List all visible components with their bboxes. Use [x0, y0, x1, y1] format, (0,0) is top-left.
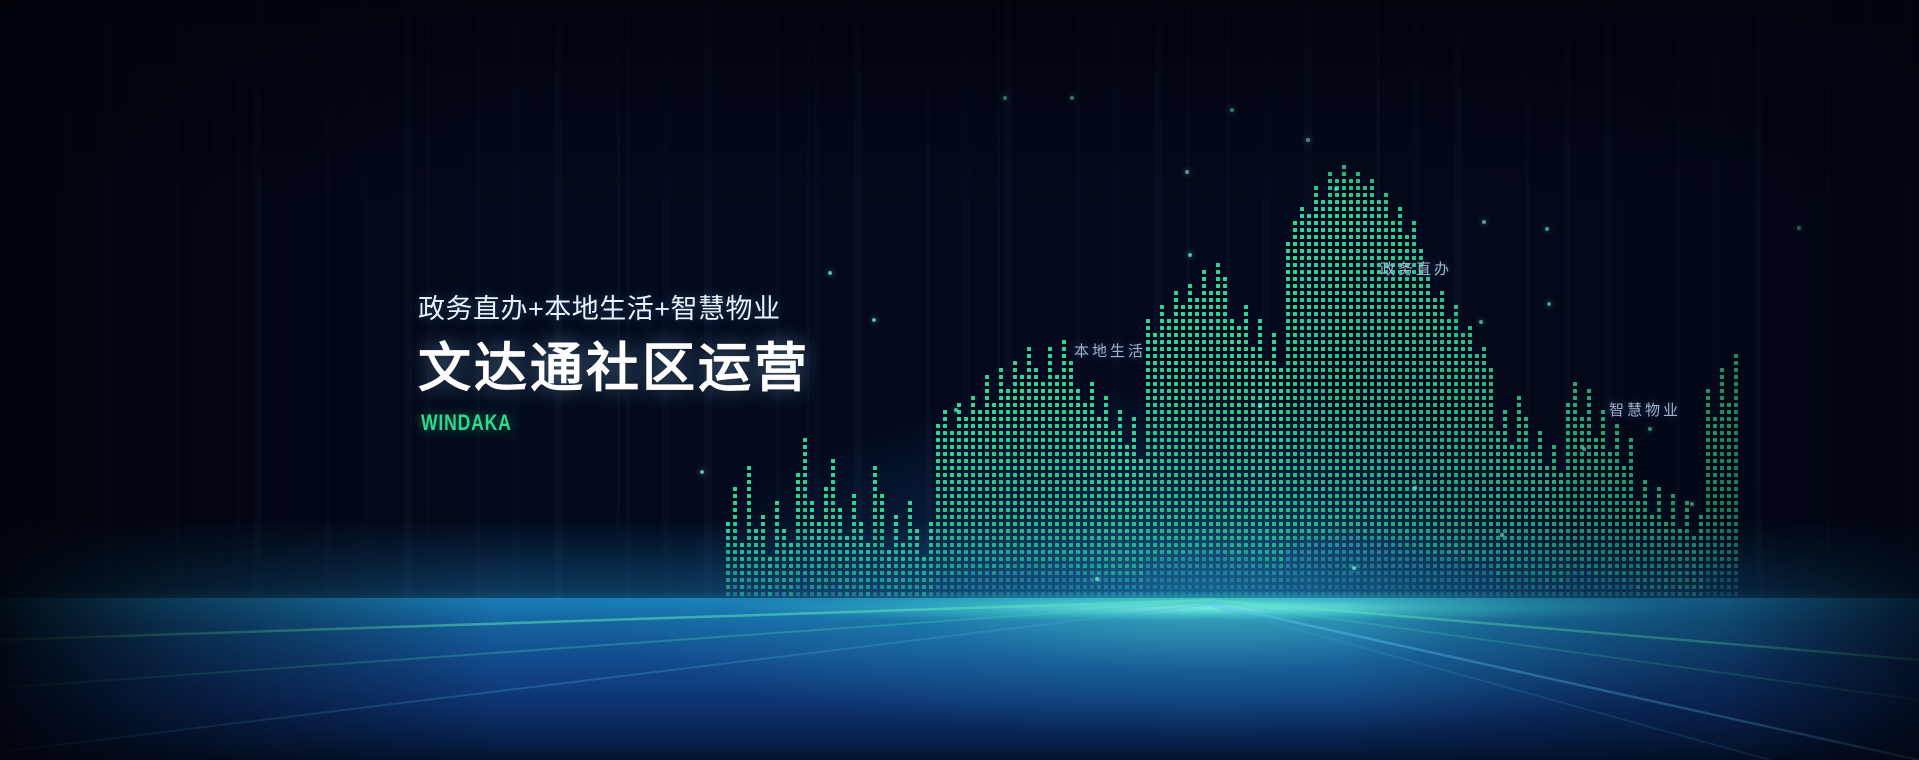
brand-wordmark: WINDAKA: [421, 412, 732, 434]
hero-copy-block: 政务直办+本地生活+智慧物业 文达通社区运营 WINDAKA: [418, 296, 810, 434]
edge-vignette: [0, 0, 1919, 760]
floating-label: 本地生活: [1074, 340, 1146, 361]
hero-subtitle: 政务直办+本地生活+智慧物业: [418, 296, 810, 323]
floating-label: 政务直办: [1380, 258, 1452, 279]
hero-title: 文达通社区运营: [418, 342, 810, 395]
floating-label: 智慧物业: [1609, 399, 1681, 420]
hero-banner: 本地生活政务直办智慧物业 政务直办+本地生活+智慧物业 文达通社区运营 WIND…: [0, 0, 1919, 760]
